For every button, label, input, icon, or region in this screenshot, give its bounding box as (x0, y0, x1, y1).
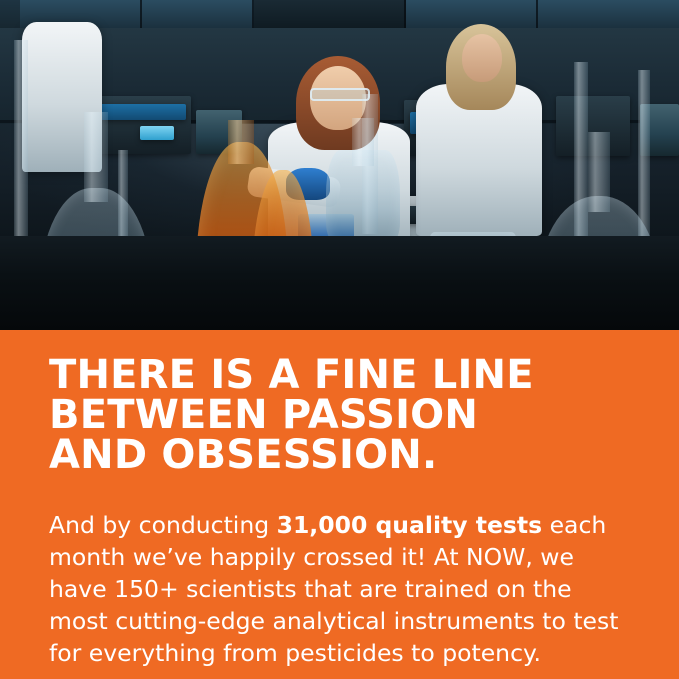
amber-flask-neck (228, 120, 254, 164)
body-highlight: 31,000 quality tests (277, 511, 543, 539)
round-bottom-flask-neck (588, 132, 610, 212)
orange-panel: THERE IS A FINE LINE BETWEEN PASSION AND… (0, 330, 679, 679)
background-scientist-head (462, 34, 502, 82)
equipment-display (140, 126, 174, 140)
volumetric-flask-neck (84, 112, 108, 202)
lab-bench (0, 236, 679, 330)
upper-cabinet (142, 0, 254, 30)
headline-line-2: BETWEEN PASSION (49, 395, 639, 435)
headline: THERE IS A FINE LINE BETWEEN PASSION AND… (49, 355, 639, 475)
poster: 500 THERE IS A FINE LINE BETWEEN PASSION… (0, 0, 679, 679)
erlenmeyer-flask-neck (352, 118, 374, 166)
body-text-part1: And by conducting (49, 511, 277, 539)
upper-cabinet (254, 0, 406, 30)
safety-glasses (310, 88, 370, 101)
lab-photo: 500 (0, 0, 679, 330)
glass-column (638, 70, 650, 240)
headline-line-1: THERE IS A FINE LINE (49, 355, 639, 395)
body-copy: And by conducting 31,000 quality tests e… (49, 509, 629, 670)
headline-line-3: AND OBSESSION. (49, 435, 639, 475)
lab-equipment (100, 104, 186, 120)
upper-cabinet (538, 0, 679, 30)
